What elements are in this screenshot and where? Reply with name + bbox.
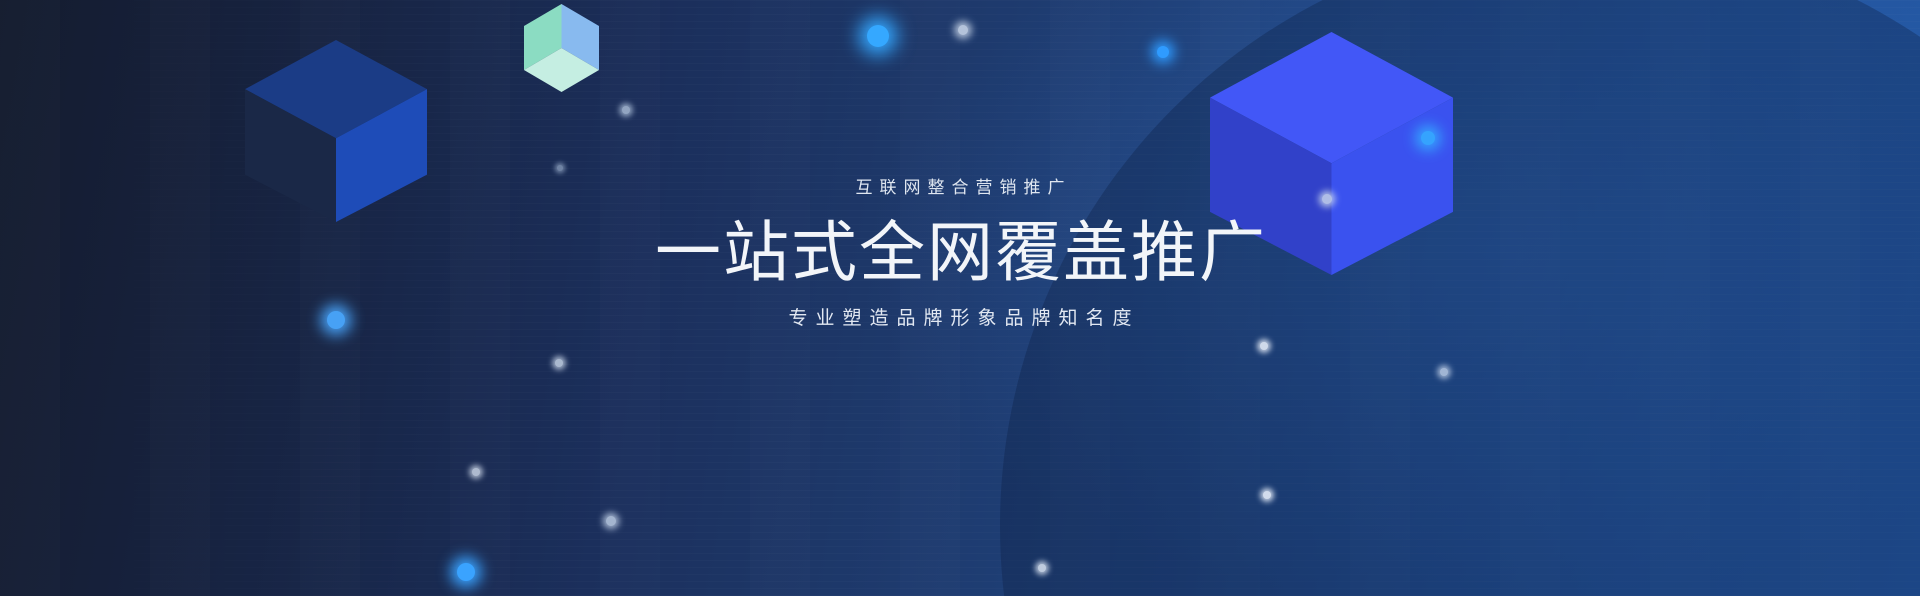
hero-banner: 互联网整合营销推广 一站式全网覆盖推广 专业塑造品牌形象品牌知名度 bbox=[0, 0, 1920, 596]
teal-gradient-cube-icon bbox=[524, 4, 599, 92]
hero-eyebrow: 互联网整合营销推广 bbox=[0, 178, 1920, 198]
hero-text-block: 互联网整合营销推广 一站式全网覆盖推广 专业塑造品牌形象品牌知名度 bbox=[0, 178, 1920, 331]
hero-headline: 一站式全网覆盖推广 bbox=[0, 216, 1920, 290]
hero-subline: 专业塑造品牌形象品牌知名度 bbox=[0, 308, 1920, 331]
